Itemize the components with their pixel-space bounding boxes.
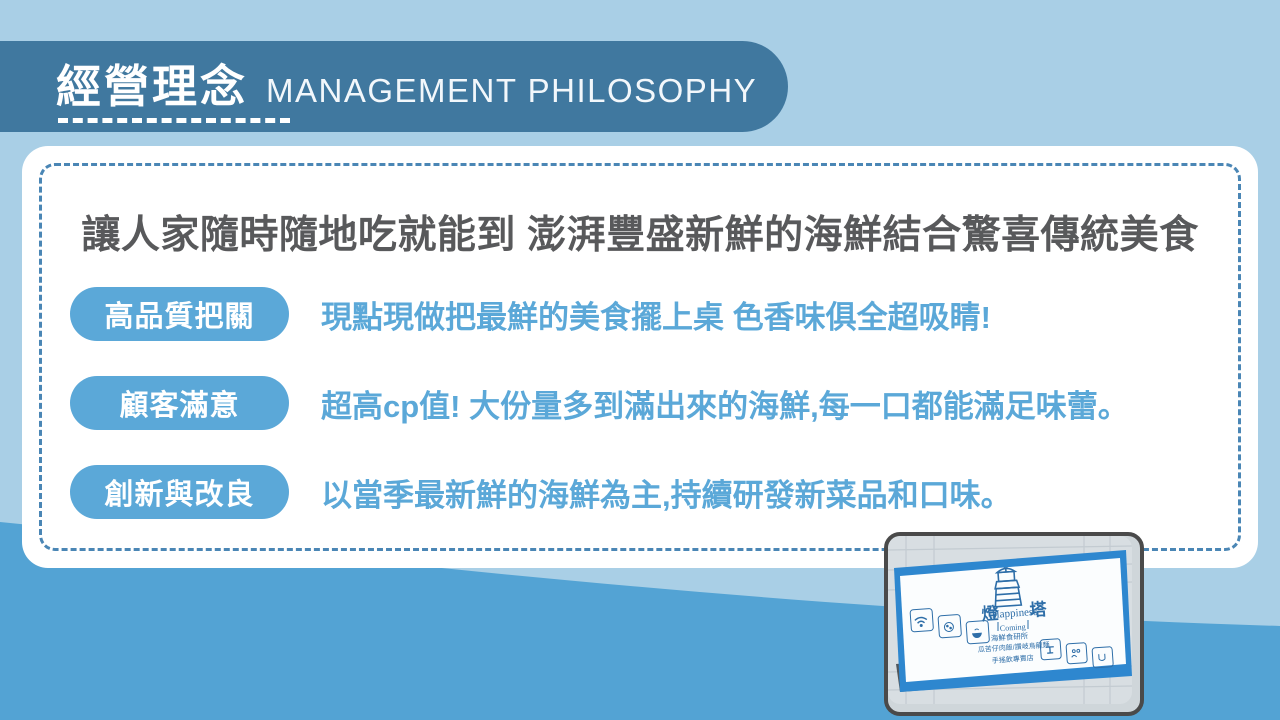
slide-canvas: 讓人家隨時隨地吃就能到 澎湃豐盛新鮮的海鮮結合驚喜傳統美食 高品質把關 現點現做…: [0, 0, 1280, 720]
pill-label-satisfaction: 顧客滿意: [70, 376, 289, 430]
pill-label-quality: 高品質把關: [70, 287, 289, 341]
section-header-bar: 經營理念 MANAGEMENT PHILOSOPHY: [0, 41, 788, 132]
list-item: 顧客滿意 超高cp值! 大份量多到滿出來的海鮮,每一口都能滿足味蕾。: [70, 375, 1220, 431]
header-dashed-underline: [58, 118, 290, 123]
row-text-innovation: 以當季最新鮮的海鮮為主,持續研發新菜品和口味。: [321, 470, 1012, 515]
storefront-photo: 燈 塔 Happiness Coming 海鮮食研所 瓜苦仔肉飯/讚岐烏龍麵 手…: [884, 532, 1144, 716]
list-item: 高品質把關 現點現做把最鮮的美食擺上桌 色香味俱全超吸睛!: [70, 286, 1220, 342]
row-text-satisfaction: 超高cp值! 大份量多到滿出來的海鮮,每一口都能滿足味蕾。: [321, 381, 1129, 426]
signboard-illustration: 燈 塔 Happiness Coming 海鮮食研所 瓜苦仔肉飯/讚岐烏龍麵 手…: [888, 536, 1132, 704]
list-item: 創新與改良 以當季最新鮮的海鮮為主,持續研發新菜品和口味。: [70, 464, 1220, 520]
section-title-chinese: 經營理念: [56, 64, 248, 109]
content-card: 讓人家隨時隨地吃就能到 澎湃豐盛新鮮的海鮮結合驚喜傳統美食 高品質把關 現點現做…: [22, 146, 1258, 568]
section-title-english: MANAGEMENT PHILOSOPHY: [266, 72, 757, 110]
page-headline: 讓人家隨時隨地吃就能到 澎湃豐盛新鮮的海鮮結合驚喜傳統美食: [22, 204, 1258, 260]
row-text-quality: 現點現做把最鮮的美食擺上桌 色香味俱全超吸睛!: [321, 292, 991, 337]
header-inner: 經營理念 MANAGEMENT PHILOSOPHY: [56, 64, 757, 110]
pill-label-innovation: 創新與改良: [70, 465, 289, 519]
philosophy-list: 高品質把關 現點現做把最鮮的美食擺上桌 色香味俱全超吸睛! 顧客滿意 超高cp值…: [70, 286, 1220, 553]
